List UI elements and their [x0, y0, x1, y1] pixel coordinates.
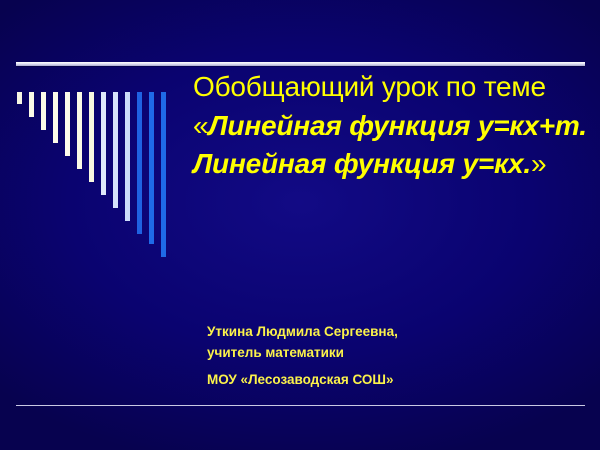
decorative-bar: [65, 92, 70, 156]
decorative-bar: [101, 92, 106, 195]
title-emphasis-part: Линейная функция у=кх+т. Линейная функци…: [193, 110, 587, 180]
decorative-bar: [89, 92, 94, 182]
title-plain-part: Обобщающий урок по теме: [193, 71, 546, 102]
author-name: Уткина Людмила Сергеевна,: [207, 322, 587, 343]
decorative-bar: [125, 92, 130, 221]
decorative-bar: [161, 92, 166, 257]
author-role: учитель математики: [207, 343, 587, 364]
author-school: МОУ «Лесозаводская СОШ»: [207, 370, 587, 391]
decorative-bar: [77, 92, 82, 169]
descending-bar-chart-graphic: [17, 92, 169, 257]
title-quote-open: «: [193, 110, 208, 141]
decorative-bar: [41, 92, 46, 130]
presentation-slide: Обобщающий урок по теме «Линейная функци…: [0, 0, 600, 450]
decorative-bar: [29, 92, 34, 117]
top-divider-rule: [16, 62, 585, 66]
author-credits: Уткина Людмила Сергеевна, учитель матема…: [207, 322, 587, 391]
decorative-bar: [149, 92, 154, 244]
decorative-bar: [113, 92, 118, 208]
bottom-divider-rule: [16, 405, 585, 406]
decorative-bar: [17, 92, 22, 104]
decorative-bar: [137, 92, 142, 234]
title-quote-close: »: [531, 148, 546, 179]
slide-title: Обобщающий урок по теме «Линейная функци…: [193, 68, 593, 184]
decorative-bar: [53, 92, 58, 143]
